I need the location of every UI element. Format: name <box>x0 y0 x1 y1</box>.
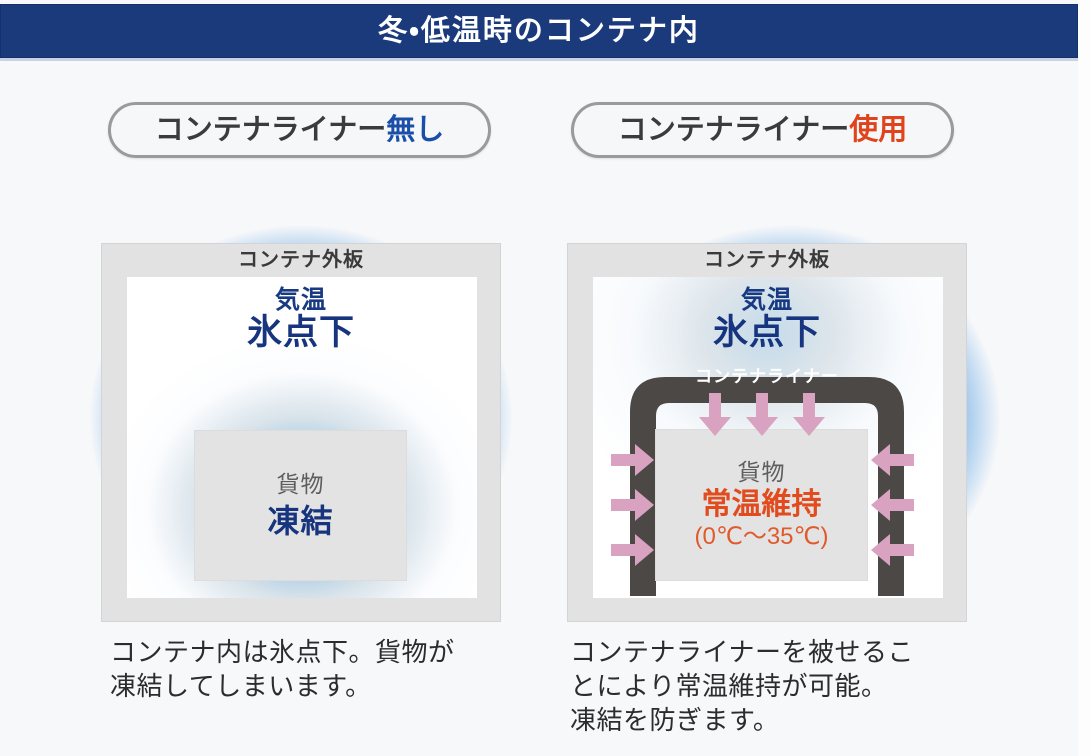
cold-arrow-left-icon <box>870 533 914 567</box>
pill-with-liner[interactable]: コンテナライナー使用 <box>571 102 954 158</box>
air-temp-value: 氷点下 <box>567 314 967 352</box>
caption-with-liner: コンテナライナーを被せるこ とにより常温維持が可能。 凍結を防ぎます。 <box>570 636 1020 737</box>
header-banner: 冬・低温時のコンテナ内 <box>0 4 1078 58</box>
cargo-state: 常温維持 <box>702 488 822 523</box>
cold-arrow-down-icon <box>792 393 826 437</box>
caption-without-liner: コンテナ内は氷点下。貨物が 凍結してしまいます。 <box>110 636 530 704</box>
cold-arrow-right-icon <box>611 533 655 567</box>
container-outer-plate-label: コンテナ外板 <box>568 250 966 270</box>
cargo-box-without-liner: 貨物 凍結 <box>194 430 407 581</box>
air-temperature-block-right: 気温 氷点下 <box>567 287 967 352</box>
pill-label-base: コンテナライナー <box>618 116 849 145</box>
cold-arrow-right-icon <box>611 488 655 522</box>
container-liner-label: コンテナライナー <box>617 368 917 385</box>
pill-without-liner[interactable]: コンテナライナー無し <box>108 102 491 158</box>
header-underline <box>0 58 1078 61</box>
air-temp-caption: 気温 <box>567 287 967 314</box>
cargo-label: 貨物 <box>738 459 786 485</box>
cold-arrow-left-icon <box>870 488 914 522</box>
cold-arrow-right-icon <box>611 443 655 477</box>
right-edge-strip <box>1078 0 1090 756</box>
infographic-root: 冬・低温時のコンテナ内 コンテナライナー無し コンテナライナー使用 コンテナ外板… <box>0 0 1090 756</box>
cold-arrow-down-icon <box>698 393 732 437</box>
cargo-state: 凍結 <box>267 502 333 540</box>
pill-label-accent: 無し <box>386 116 444 145</box>
cargo-box-with-liner: 貨物 常温維持 (0℃〜35℃) <box>655 429 868 581</box>
cold-arrow-down-icon <box>745 393 779 437</box>
cargo-label: 貨物 <box>277 471 325 497</box>
cargo-temperature-range: (0℃〜35℃) <box>695 523 829 551</box>
pill-label-accent: 使用 <box>849 116 907 145</box>
cold-arrow-left-icon <box>870 443 914 477</box>
pill-label-base: コンテナライナー <box>155 116 386 145</box>
container-outer-plate-label: コンテナ外板 <box>102 250 500 270</box>
air-temp-value: 氷点下 <box>101 314 501 352</box>
air-temperature-block-left: 気温 氷点下 <box>101 287 501 352</box>
air-temp-caption: 気温 <box>101 287 501 314</box>
page-title: 冬・低温時のコンテナ内 <box>378 17 700 46</box>
